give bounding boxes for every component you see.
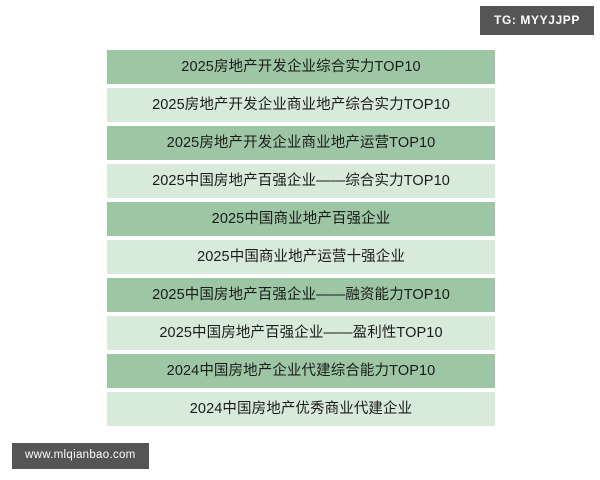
list-item-label: 2025中国房地产百强企业——综合实力TOP10 [152,174,450,189]
site-watermark: www.mlqianbao.com [12,443,149,470]
list-item-label: 2025中国房地产百强企业——盈利性TOP10 [159,326,442,341]
list-item: 2025房地产开发企业综合实力TOP10 [107,50,495,84]
list-item-label: 2024中国房地产优秀商业代建企业 [190,402,412,417]
list-item-label: 2025房地产开发企业商业地产综合实力TOP10 [152,98,450,113]
list-item-label: 2025房地产开发企业综合实力TOP10 [181,60,420,75]
list-item-label: 2025中国房地产百强企业——融资能力TOP10 [152,288,450,303]
list-item: 2025中国房地产百强企业——融资能力TOP10 [107,278,495,312]
list-item: 2025中国房地产百强企业——综合实力TOP10 [107,164,495,198]
list-item: 2024中国房地产优秀商业代建企业 [107,392,495,426]
list-item-label: 2025房地产开发企业商业地产运营TOP10 [167,136,436,151]
list-item-label: 2024中国房地产企业代建综合能力TOP10 [167,364,436,379]
list-item: 2025中国商业地产运营十强企业 [107,240,495,274]
list-item: 2024中国房地产企业代建综合能力TOP10 [107,354,495,388]
list-item-label: 2025中国商业地产百强企业 [212,212,391,227]
list-item: 2025中国商业地产百强企业 [107,202,495,236]
telegram-channel-badge: TG: MYYJJPP [480,6,594,35]
list-item: 2025房地产开发企业商业地产运营TOP10 [107,126,495,160]
list-item: 2025中国房地产百强企业——盈利性TOP10 [107,316,495,350]
list-item-label: 2025中国商业地产运营十强企业 [197,250,405,265]
ranking-list: 2025房地产开发企业综合实力TOP10 2025房地产开发企业商业地产综合实力… [107,50,495,426]
list-item: 2025房地产开发企业商业地产综合实力TOP10 [107,88,495,122]
